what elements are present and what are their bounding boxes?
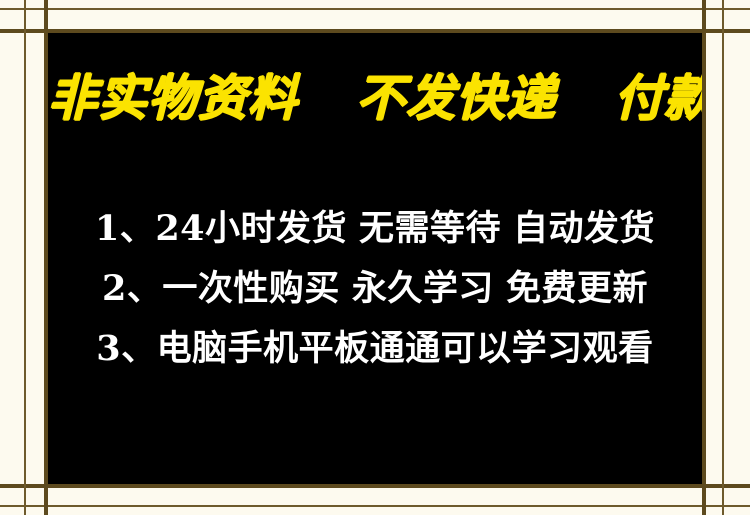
bullet-item-1: 1、24小时发货无需等待自动发货: [48, 211, 702, 246]
frame-line-left-outer: [24, 0, 26, 515]
bullet-index-3: 3: [96, 331, 121, 366]
bullet-phrase-2-2: 永久学习: [352, 271, 494, 306]
headline-segment-2: 不发快递: [356, 73, 556, 124]
bullet-separator-3: 、: [121, 331, 157, 366]
bullet-phrase-2-3: 免费更新: [506, 271, 648, 306]
content-panel: 非实物资料 不发快递 付款即看 1、24小时发货无需等待自动发货 2、一次性购买…: [48, 33, 702, 484]
bullet-separator-2: 、: [127, 271, 163, 306]
bullet-item-3: 3、电脑手机平板通通可以学习观看: [48, 331, 702, 366]
bullet-phrase-1-3: 自动发货: [513, 211, 655, 246]
headline-segment-1: 非实物资料: [48, 73, 298, 124]
frame-line-top-outer: [0, 8, 750, 10]
frame-line-right-inner: [702, 0, 706, 515]
bullet-separator-1: 、: [120, 211, 156, 246]
bullet-phrase-2-1: 一次性购买: [162, 271, 340, 306]
bullet-index-1: 1: [95, 211, 120, 246]
frame-line-bottom-outer: [0, 505, 750, 507]
bullet-phrase-1-1: 24小时发货: [155, 211, 347, 246]
bullet-list: 1、24小时发货无需等待自动发货 2、一次性购买永久学习免费更新 3、电脑手机平…: [48, 211, 702, 366]
frame-line-bottom-inner: [0, 484, 750, 488]
bullet-item-2: 2、一次性购买永久学习免费更新: [48, 271, 702, 306]
bullet-index-2: 2: [102, 271, 127, 306]
headline: 非实物资料 不发快递 付款即看: [48, 73, 702, 124]
bullet-phrase-1-2: 无需等待: [359, 211, 501, 246]
frame-line-right-outer: [722, 0, 724, 515]
bullet-phrase-3-1: 电脑手机平板通通可以学习观看: [157, 331, 654, 366]
promo-poster: 非实物资料 不发快递 付款即看 1、24小时发货无需等待自动发货 2、一次性购买…: [0, 0, 750, 515]
headline-segment-3: 付款即看: [614, 73, 702, 124]
